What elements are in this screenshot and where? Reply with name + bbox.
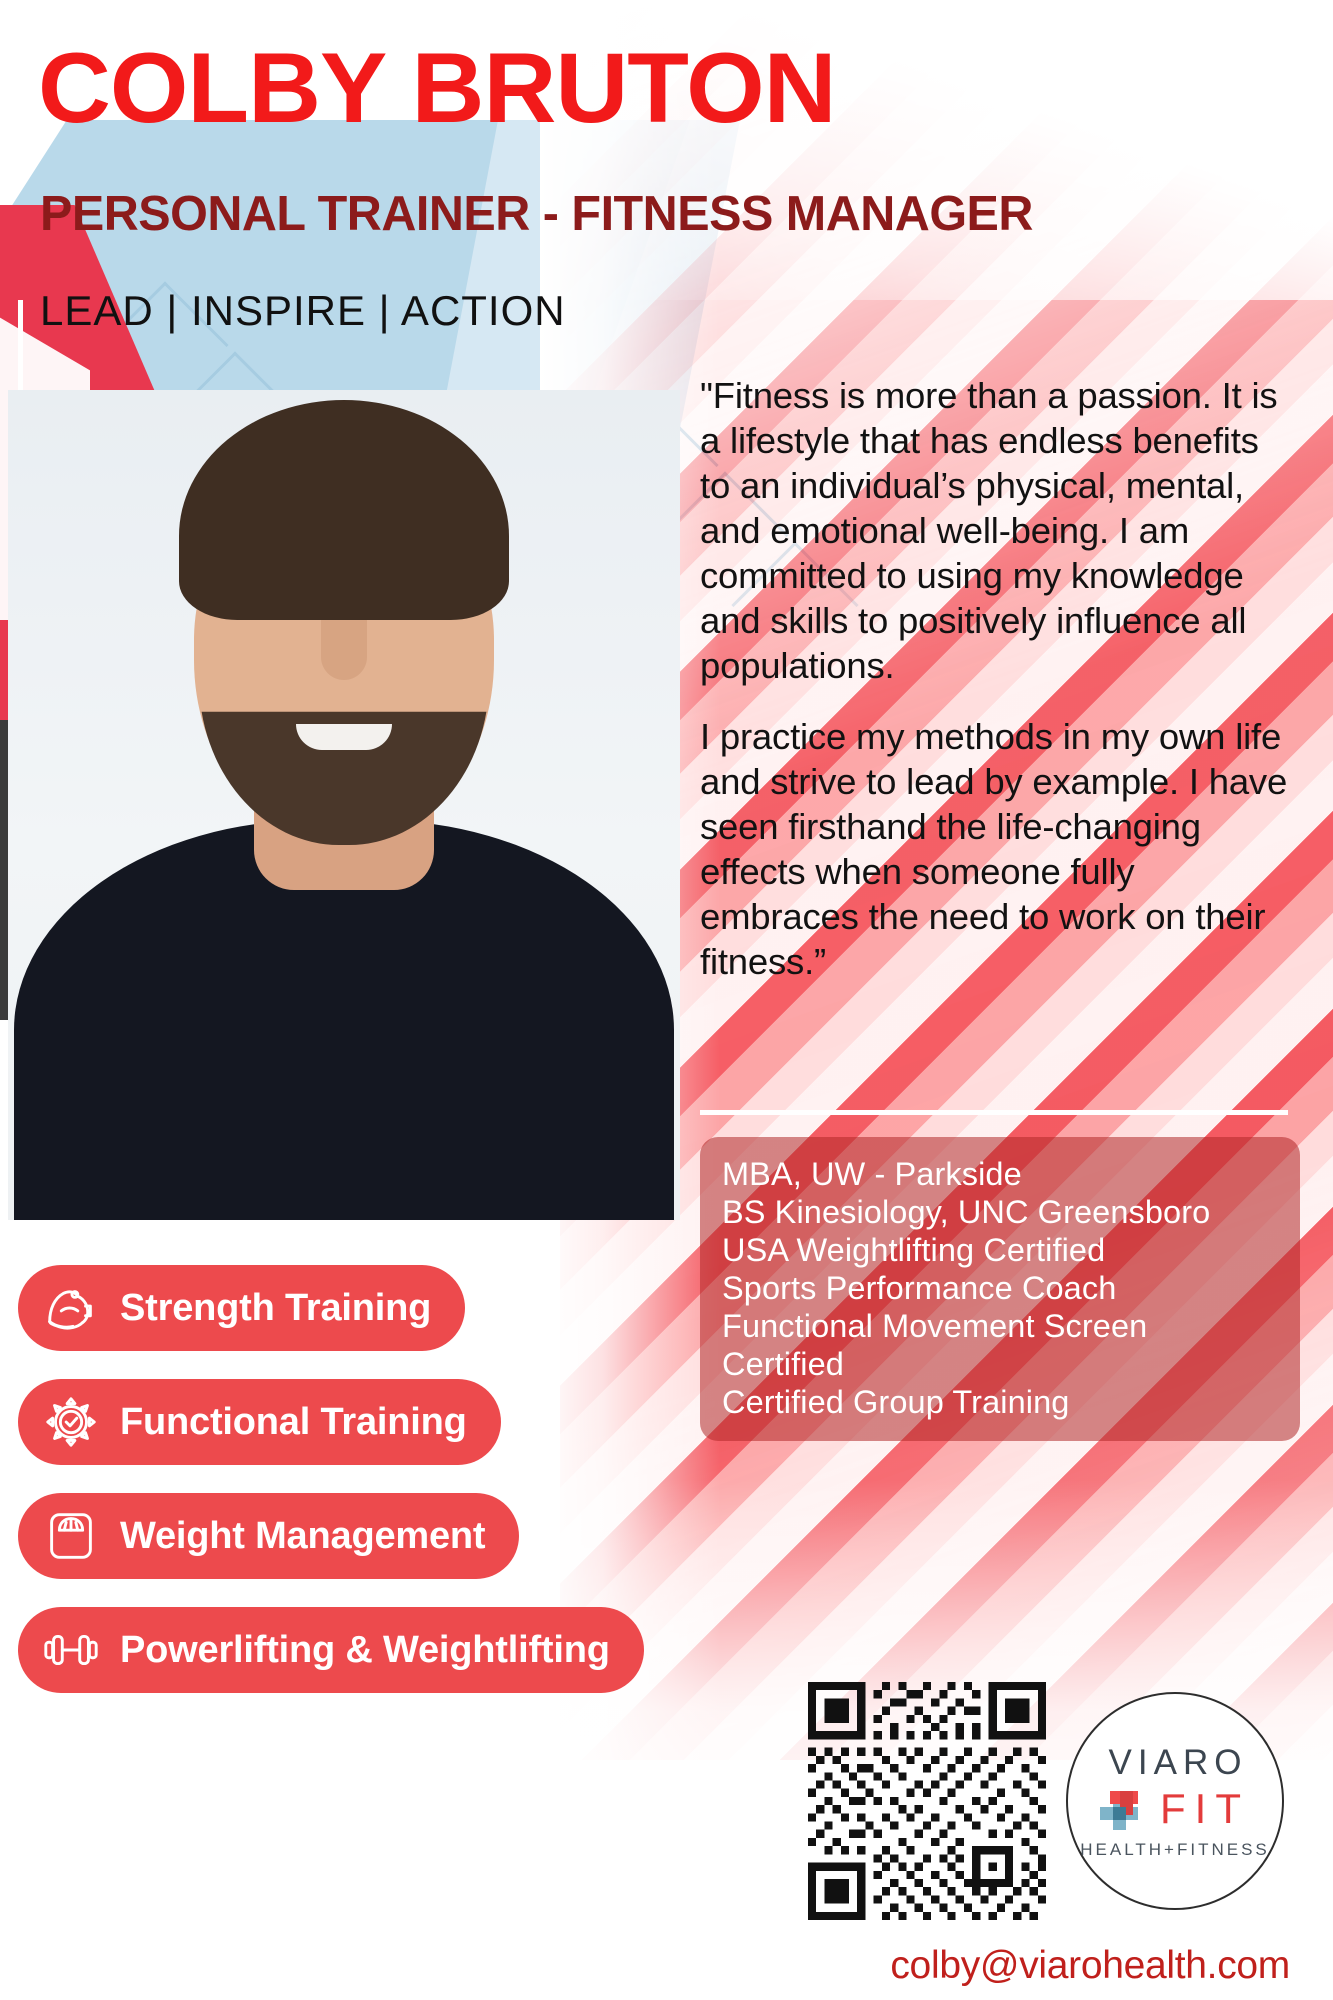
- credential-item: MBA, UW - Parkside: [722, 1155, 1278, 1193]
- logo-middle-row: FIT: [1100, 1787, 1250, 1831]
- credential-item: BS Kinesiology, UNC Greensboro: [722, 1193, 1278, 1231]
- medical-cross-icon: [1100, 1787, 1146, 1831]
- dumbbell-icon: [40, 1619, 102, 1681]
- credential-item: USA Weightlifting Certified: [722, 1231, 1278, 1269]
- bio-quote: "Fitness is more than a passion. It is a…: [700, 373, 1288, 984]
- contact-email[interactable]: colby@viarohealth.com: [0, 1944, 1290, 1988]
- skill-pill-strength-training[interactable]: Strength Training: [18, 1265, 465, 1351]
- quote-divider: [700, 1110, 1288, 1115]
- poster-canvas: COLBY BRUTON PERSONAL TRAINER - FITNESS …: [0, 0, 1333, 2000]
- portrait-nose: [321, 610, 367, 680]
- flexed-bicep-icon: [40, 1277, 102, 1339]
- credentials-panel: MBA, UW - Parkside BS Kinesiology, UNC G…: [700, 1137, 1300, 1441]
- viaro-fit-logo: VIARO FIT HEALTH+FITNESS: [1066, 1692, 1284, 1910]
- skill-pill-powerlifting-weightlifting[interactable]: Powerlifting & Weightlifting: [18, 1607, 644, 1693]
- qr-code-icon[interactable]: [808, 1682, 1046, 1920]
- credential-item: Functional Movement Screen Certified: [722, 1307, 1278, 1383]
- skills-list: Strength Training Functional Training: [18, 1265, 644, 1721]
- quote-paragraph: I practice my methods in my own life and…: [700, 714, 1288, 984]
- skill-label: Weight Management: [120, 1515, 485, 1558]
- credential-item: Sports Performance Coach: [722, 1269, 1278, 1307]
- skill-label: Powerlifting & Weightlifting: [120, 1629, 610, 1672]
- portrait-smile: [296, 724, 392, 750]
- skill-pill-functional-training[interactable]: Functional Training: [18, 1379, 501, 1465]
- logo-wordmark-fit: FIT: [1160, 1788, 1250, 1830]
- logo-wordmark-viaro: VIARO: [1109, 1745, 1248, 1780]
- page-title: COLBY BRUTON: [38, 38, 836, 137]
- logo-subtitle: HEALTH+FITNESS: [1080, 1841, 1270, 1858]
- skill-label: Strength Training: [120, 1287, 431, 1330]
- quote-paragraph: "Fitness is more than a passion. It is a…: [700, 373, 1288, 688]
- skill-label: Functional Training: [120, 1401, 467, 1444]
- credential-item: Certified Group Training: [722, 1383, 1278, 1421]
- skill-pill-weight-management[interactable]: Weight Management: [18, 1493, 519, 1579]
- role-subtitle: PERSONAL TRAINER - FITNESS MANAGER: [40, 190, 1033, 239]
- portrait-photo: [8, 390, 680, 1220]
- tagline: LEAD | INSPIRE | ACTION: [40, 290, 566, 332]
- bathroom-scale-icon: [40, 1505, 102, 1567]
- gear-check-icon: [40, 1391, 102, 1453]
